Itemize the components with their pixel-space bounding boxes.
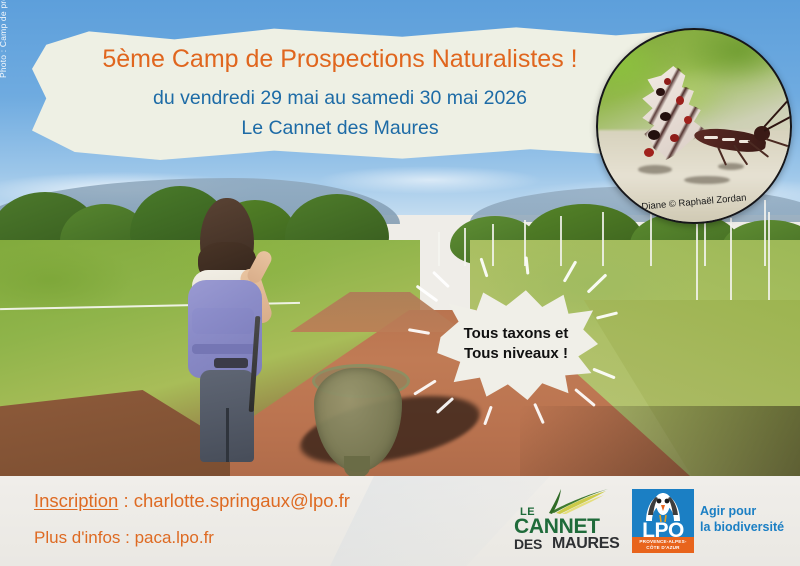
fence-post: [730, 218, 732, 300]
ground: [0, 240, 800, 476]
burst-ray: [413, 379, 437, 395]
photo-credit-vertical: Photo : Camp de prospections Naturaliste…: [0, 0, 12, 78]
inscription-email[interactable]: charlotte.springaux@lpo.fr: [134, 490, 350, 511]
event-location: Le Cannet des Maures: [241, 117, 438, 140]
inscription-line: Inscription : charlotte.springaux@lpo.fr: [34, 490, 350, 512]
burst-ray: [592, 368, 615, 380]
logo-text-maures: MAURES: [552, 535, 620, 553]
logo-lpo: LPO PROVENCE-ALPES- CÔTE D'AZUR: [632, 489, 694, 553]
callout-line-1: Tous taxons et: [464, 324, 569, 344]
lpo-tagline: Agir pour la biodiversité: [700, 504, 784, 535]
burst-ray: [533, 403, 545, 424]
wing-spot: [644, 148, 654, 157]
inscription-label: Inscription: [34, 490, 118, 511]
leg-seam: [226, 408, 229, 462]
body-stripe: [704, 136, 718, 139]
fence-post: [696, 224, 698, 300]
burst-ray: [432, 271, 450, 288]
logo-le-cannet-des-maures: LE CANNET DES MAURES: [512, 488, 620, 554]
wing-spot: [660, 112, 671, 121]
butterfly-photo-circle: Diane © Raphaël Zordan: [596, 28, 792, 224]
callout-line-2: Tous niveaux !: [464, 344, 568, 364]
burst-ray: [408, 328, 430, 335]
header-banner-text: 5ème Camp de Prospections Naturalistes !…: [40, 30, 640, 156]
wheat-leaf-icon: [548, 488, 610, 514]
fence-post: [492, 224, 494, 266]
burst-ray: [596, 311, 618, 319]
fence-post: [464, 228, 466, 266]
burst-ray: [574, 388, 596, 407]
fence-post: [768, 212, 770, 300]
more-info-line[interactable]: Plus d'infos : paca.lpo.fr: [34, 528, 350, 548]
fence-post: [560, 216, 562, 266]
sand-speck: [718, 163, 744, 170]
burst-ray: [416, 285, 439, 303]
wing-spot: [670, 134, 679, 142]
lpo-tagline-line-1: Agir pour: [700, 504, 784, 520]
burst-ray: [436, 397, 454, 414]
inscription-separator: :: [118, 490, 133, 511]
sand-speck: [684, 176, 730, 184]
body-stripe: [722, 138, 735, 141]
net-tip: [344, 456, 370, 476]
event-dates: du vendredi 29 mai au samedi 30 mai 2026: [153, 87, 527, 110]
fence-post: [438, 232, 440, 266]
sand-speck: [638, 165, 672, 174]
burst-ray: [483, 406, 493, 426]
wing-spot: [656, 88, 665, 96]
lpo-tagline-line-2: la biodiversité: [700, 520, 784, 536]
logo-text-des: DES: [514, 536, 542, 552]
backpack-buckle: [214, 358, 248, 368]
contact-block: Inscription : charlotte.springaux@lpo.fr…: [34, 490, 350, 548]
page-title: 5ème Camp de Prospections Naturalistes !: [102, 46, 577, 74]
backpack-pocket: [192, 308, 254, 334]
burst-ray: [587, 273, 608, 293]
poster-root: Photo : Camp de prospections Naturaliste…: [0, 0, 800, 566]
logo-region-strip: PROVENCE-ALPES- CÔTE D'AZUR: [632, 537, 694, 553]
wing-spot: [676, 96, 684, 105]
logo-region-line-2: CÔTE D'AZUR: [646, 545, 679, 551]
backpack-strap: [192, 344, 258, 354]
wing-spot: [648, 130, 660, 140]
wing-spot: [664, 78, 671, 85]
naturalist-person: [168, 198, 298, 460]
wing-spot: [684, 116, 692, 124]
